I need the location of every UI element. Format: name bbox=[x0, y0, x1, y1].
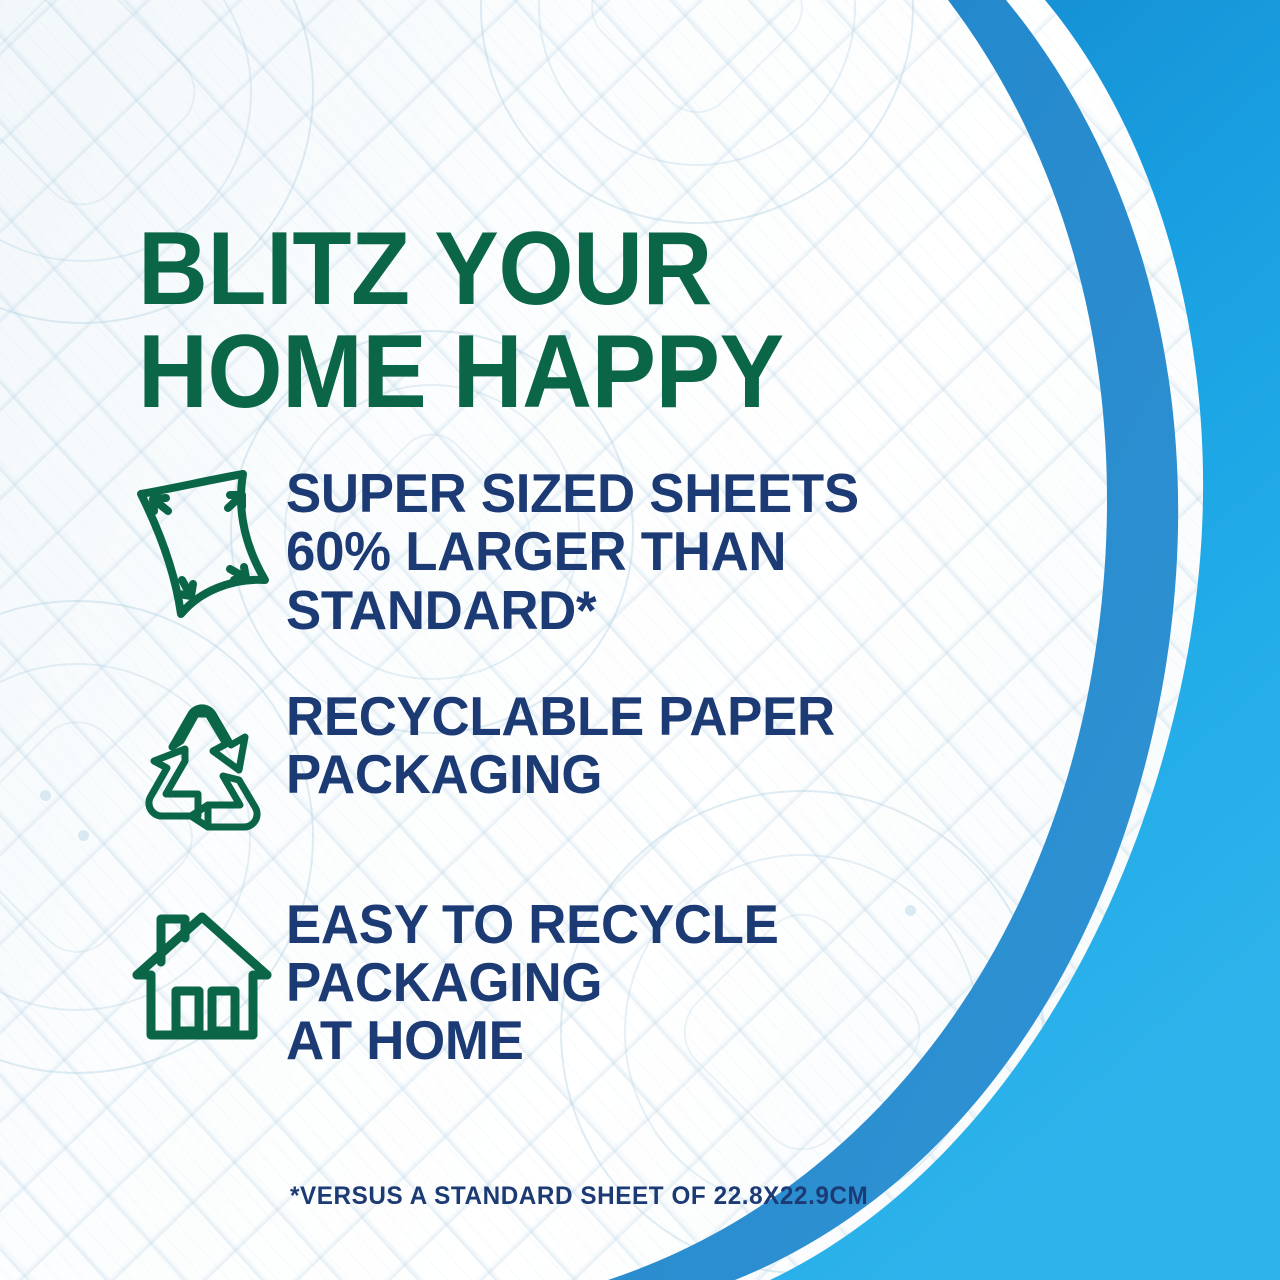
headline-line-2: HOME HAPPY bbox=[138, 321, 1003, 424]
feature-text-recyclable-paper-packaging: RECYCLABLE PAPER PACKAGING bbox=[286, 685, 1085, 804]
product-feature-poster: BLITZ YOUR HOME HAPPY bbox=[0, 0, 1280, 1280]
footnote-disclaimer: *VERSUS A STANDARD SHEET OF 22.8X22.9CM bbox=[290, 1182, 868, 1211]
expanding-sheet-icon bbox=[118, 462, 286, 628]
feature-item-super-sized-sheets: SUPER SIZED SHEETS 60% LARGER THAN STAND… bbox=[118, 462, 1118, 639]
feature-item-easy-to-recycle-at-home: EASY TO RECYCLE PACKAGING AT HOME bbox=[118, 893, 1118, 1070]
feature-item-recyclable-paper-packaging: RECYCLABLE PAPER PACKAGING bbox=[118, 685, 1118, 855]
house-icon bbox=[118, 893, 286, 1067]
headline-line-1: BLITZ YOUR bbox=[138, 218, 1003, 321]
feature-text-super-sized-sheets: SUPER SIZED SHEETS 60% LARGER THAN STAND… bbox=[286, 462, 1085, 639]
page-title: BLITZ YOUR HOME HAPPY bbox=[138, 218, 1003, 424]
recycle-triangle-icon bbox=[118, 685, 286, 855]
feature-list: SUPER SIZED SHEETS 60% LARGER THAN STAND… bbox=[118, 462, 1118, 1070]
poster-content: BLITZ YOUR HOME HAPPY bbox=[0, 0, 1280, 1280]
feature-text-easy-to-recycle-at-home: EASY TO RECYCLE PACKAGING AT HOME bbox=[286, 893, 1085, 1070]
